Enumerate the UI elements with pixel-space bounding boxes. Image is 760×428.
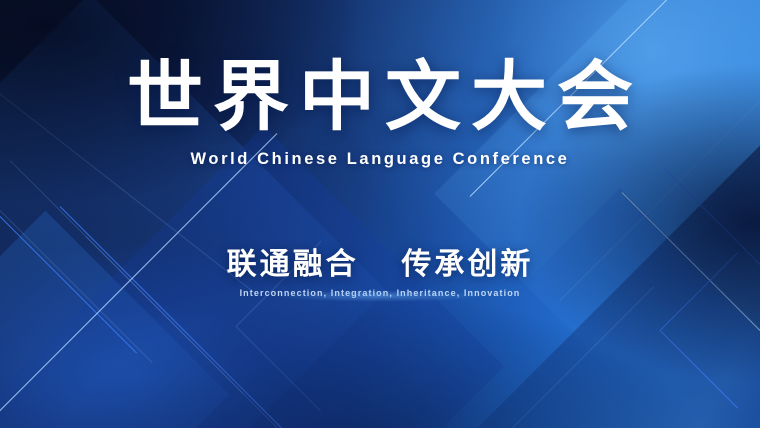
sub-title: World Chinese Language Conference — [0, 150, 760, 169]
slogan-block: 联通融合 传承创新 Interconnection, Integration, … — [0, 239, 760, 298]
title-block: 世界中文大会 World Chinese Language Conference — [0, 58, 760, 169]
slogan-chinese-part1: 联通融合 — [227, 248, 359, 281]
main-title: 世界中文大会 — [0, 58, 760, 138]
poster-content: 世界中文大会 World Chinese Language Conference… — [0, 0, 760, 428]
slogan-english: Interconnection, Integration, Inheritanc… — [0, 288, 760, 298]
conference-poster: 世界中文大会 World Chinese Language Conference… — [0, 0, 760, 428]
slogan-chinese-part2: 传承创新 — [401, 248, 533, 281]
slogan-chinese: 联通融合 传承创新 — [0, 239, 760, 283]
